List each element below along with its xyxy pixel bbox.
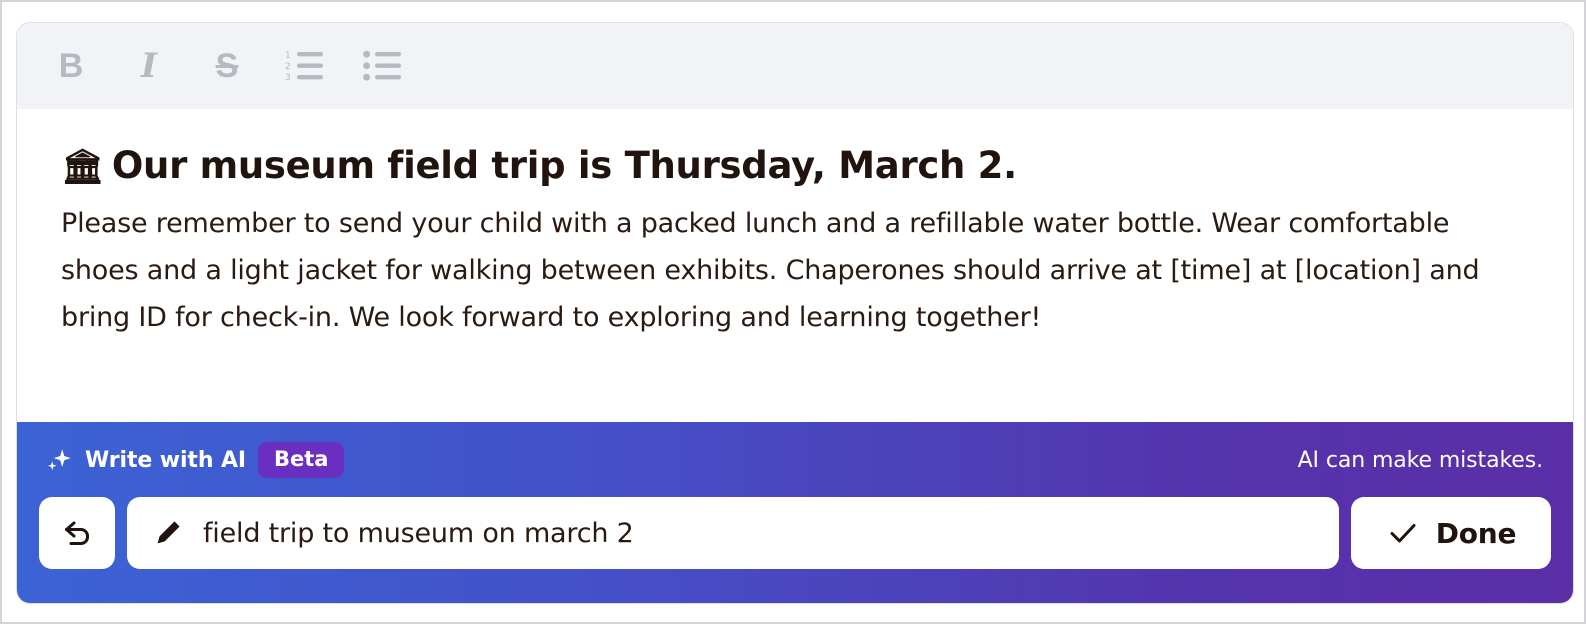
ai-prompt-value: field trip to museum on march 2 [203, 518, 634, 549]
list-number-1: 1 [285, 51, 291, 61]
document-editing-area[interactable]: 🏛Our museum field trip is Thursday, Marc… [17, 109, 1573, 422]
bulleted-list-button[interactable] [359, 42, 407, 90]
formatting-toolbar: B I S 1 2 3 [17, 23, 1573, 109]
ai-brand-label: Write with AI [85, 448, 246, 473]
bulleted-list-icon [363, 49, 403, 83]
rich-text-editor-card: B I S 1 2 3 [16, 22, 1574, 604]
numbered-list-button[interactable]: 1 2 3 [281, 42, 329, 90]
undo-arrow-icon [58, 514, 96, 552]
done-button-label: Done [1436, 517, 1517, 550]
numbered-list-icon: 1 2 3 [285, 49, 325, 83]
bold-icon: B [59, 49, 84, 83]
italic-icon: I [141, 49, 157, 83]
ai-disclaimer-text: AI can make mistakes. [1298, 448, 1543, 473]
beta-badge: Beta [258, 442, 344, 478]
undo-button[interactable] [39, 497, 115, 569]
strikethrough-icon: S [216, 49, 239, 83]
sparkles-icon [45, 446, 73, 474]
write-with-ai-panel: Write with AI Beta AI can make mistakes. [17, 422, 1573, 603]
classical-building-emoji-icon: 🏛 [61, 147, 104, 187]
strikethrough-button[interactable]: S [203, 42, 251, 90]
screenshot-root: B I S 1 2 3 [0, 0, 1586, 624]
checkmark-icon [1386, 516, 1420, 550]
list-number-2: 2 [285, 62, 291, 72]
ai-panel-controls: field trip to museum on march 2 Done [39, 497, 1551, 569]
list-number-3: 3 [285, 73, 291, 83]
ai-prompt-field[interactable]: field trip to museum on march 2 [127, 497, 1339, 569]
document-heading-text: Our museum field trip is Thursday, March… [112, 144, 1017, 187]
document-body-text: Please remember to send your child with … [61, 201, 1533, 341]
done-button[interactable]: Done [1351, 497, 1551, 569]
italic-button[interactable]: I [125, 42, 173, 90]
ai-brand-group: Write with AI Beta [45, 442, 344, 478]
bold-button[interactable]: B [47, 42, 95, 90]
pencil-icon [153, 518, 183, 548]
document-heading: 🏛Our museum field trip is Thursday, Marc… [61, 143, 1533, 189]
ai-panel-header: Write with AI Beta AI can make mistakes. [39, 434, 1551, 486]
